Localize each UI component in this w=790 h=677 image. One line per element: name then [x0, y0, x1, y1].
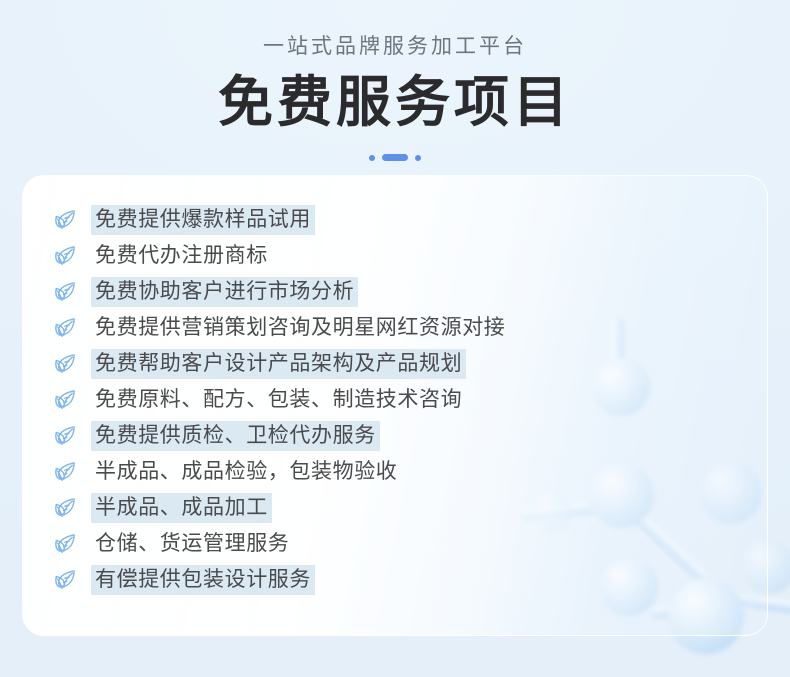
page-header: 一站式品牌服务加工平台 免费服务项目: [0, 0, 790, 163]
list-item-label: 免费协助客户进行市场分析: [91, 277, 358, 307]
list-item-label: 免费提供营销策划咨询及明星网红资源对接: [91, 313, 509, 343]
page-title: 免费服务项目: [0, 71, 790, 135]
leaf-icon: [51, 566, 79, 594]
list-item: 免费原料、配方、包装、制造技术咨询: [51, 382, 767, 418]
list-item-label: 仓储、货运管理服务: [91, 529, 293, 559]
leaf-icon: [51, 278, 79, 306]
leaf-icon: [51, 242, 79, 270]
title-divider: [0, 153, 790, 163]
list-item: 免费代办注册商标: [51, 238, 767, 274]
list-item-label: 免费提供爆款样品试用: [91, 205, 315, 235]
list-item: 半成品、成品检验，包装物验收: [51, 454, 767, 490]
leaf-icon: [51, 494, 79, 522]
list-item: 免费帮助客户设计产品架构及产品规划: [51, 346, 767, 382]
leaf-icon: [51, 206, 79, 234]
leaf-icon: [51, 350, 79, 378]
page-subtitle: 一站式品牌服务加工平台: [0, 34, 790, 59]
list-item: 免费提供爆款样品试用: [51, 202, 767, 238]
list-item-label: 免费帮助客户设计产品架构及产品规划: [91, 349, 466, 379]
divider-dot-right: [415, 155, 421, 161]
list-item-label: 免费代办注册商标: [91, 241, 272, 271]
list-item-label: 有偿提供包装设计服务: [91, 565, 315, 595]
divider-bar: [382, 154, 408, 161]
list-item-label: 免费提供质检、卫检代办服务: [91, 421, 380, 451]
leaf-icon: [51, 422, 79, 450]
list-item: 免费提供营销策划咨询及明星网红资源对接: [51, 310, 767, 346]
page-root: 一站式品牌服务加工平台 免费服务项目 免费提供爆款样品试用免费代办注册商标免费协…: [0, 0, 790, 677]
list-item: 免费提供质检、卫检代办服务: [51, 418, 767, 454]
list-item: 免费协助客户进行市场分析: [51, 274, 767, 310]
leaf-icon: [51, 530, 79, 558]
list-item: 半成品、成品加工: [51, 490, 767, 526]
list-item-label: 半成品、成品检验，包装物验收: [91, 457, 401, 487]
service-list-card: 免费提供爆款样品试用免费代办注册商标免费协助客户进行市场分析免费提供营销策划咨询…: [22, 175, 768, 636]
leaf-icon: [51, 458, 79, 486]
service-list: 免费提供爆款样品试用免费代办注册商标免费协助客户进行市场分析免费提供营销策划咨询…: [23, 176, 767, 598]
divider-dot-left: [369, 155, 375, 161]
list-item: 有偿提供包装设计服务: [51, 562, 767, 598]
leaf-icon: [51, 314, 79, 342]
list-item-label: 半成品、成品加工: [91, 493, 272, 523]
list-item: 仓储、货运管理服务: [51, 526, 767, 562]
list-item-label: 免费原料、配方、包装、制造技术咨询: [91, 385, 466, 415]
leaf-icon: [51, 386, 79, 414]
